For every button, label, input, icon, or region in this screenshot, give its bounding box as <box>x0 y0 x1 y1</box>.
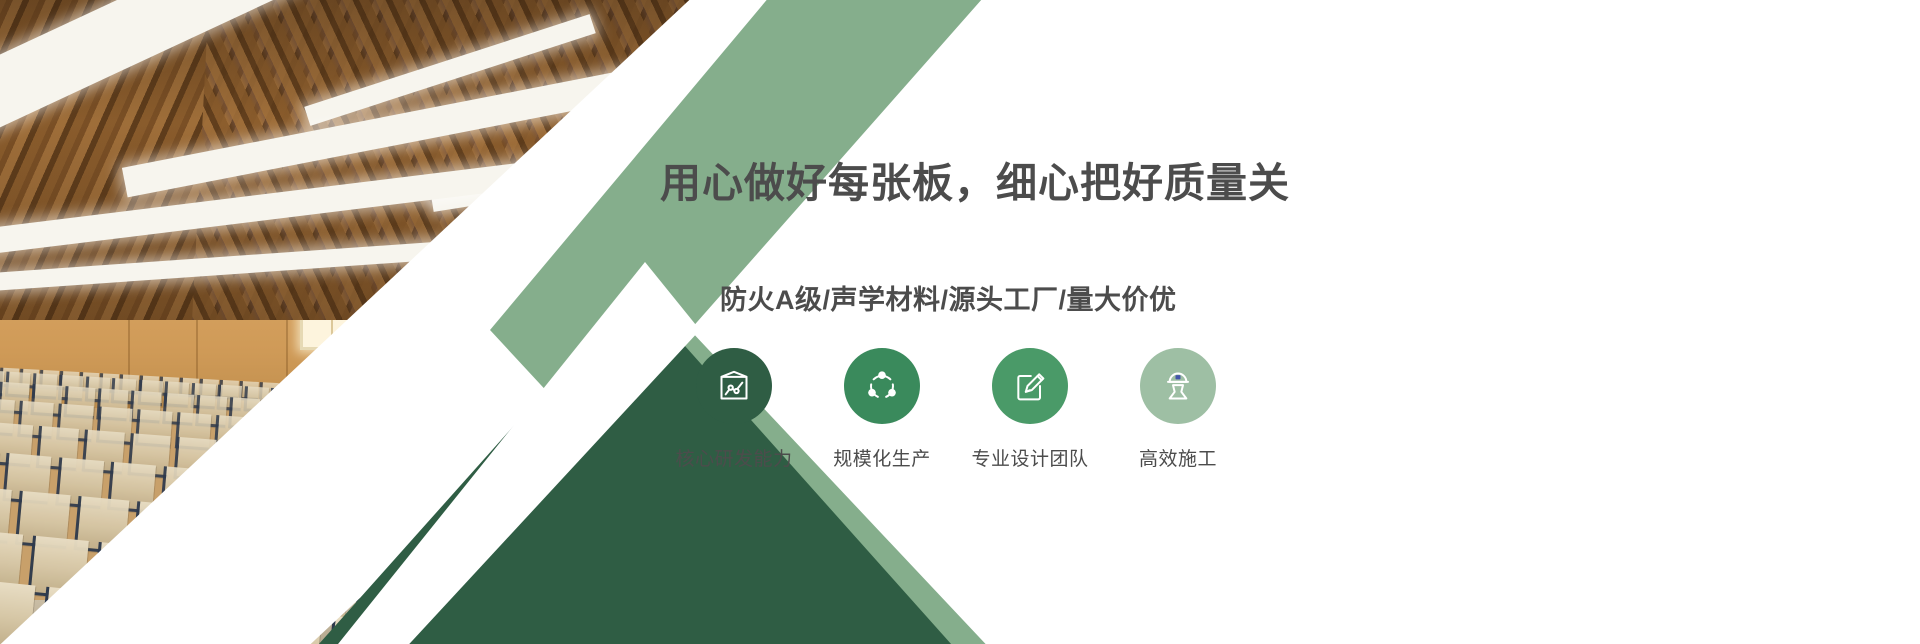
photo-seat <box>326 616 393 644</box>
banner-subtitle: 防火A级/声学材料/源头工厂/量大价优 <box>720 278 1520 317</box>
photo-seat <box>111 594 178 644</box>
feature-label: 核心研发能力 <box>675 444 792 471</box>
photo-seat <box>183 601 250 644</box>
photo-seat <box>40 587 107 644</box>
feature-icon-circle <box>696 348 772 424</box>
photo-front-chairs <box>390 338 480 348</box>
feature-item-research[interactable]: 核心研发能力 <box>660 348 808 471</box>
auditorium-photo <box>0 0 720 644</box>
hero-banner: 用心做好每张板，细心把好质量关 防火A级/声学材料/源头工厂/量大价优 <box>0 0 1920 644</box>
feature-icon-circle <box>844 348 920 424</box>
feature-label: 规模化生产 <box>833 444 931 471</box>
network-nodes-icon <box>862 366 902 406</box>
research-box-icon <box>714 366 754 406</box>
banner-content: 用心做好每张板，细心把好质量关 防火A级/声学材料/源头工厂/量大价优 <box>660 0 1920 644</box>
photo-seat <box>255 609 322 644</box>
feature-item-production[interactable]: 规模化生产 <box>808 348 956 471</box>
feature-icon-circle <box>1140 348 1216 424</box>
pencil-edit-icon <box>1010 366 1050 406</box>
feature-label: 高效施工 <box>1139 444 1217 471</box>
feature-item-design[interactable]: 专业设计团队 <box>956 348 1104 471</box>
feature-icon-circle <box>992 348 1068 424</box>
page-title: 用心做好每张板，细心把好质量关 <box>660 149 1560 209</box>
photo-seating-rows <box>0 356 720 644</box>
feature-list: 核心研发能力 规模化生产 <box>660 348 1252 471</box>
worker-helmet-icon <box>1158 366 1198 406</box>
feature-item-construction[interactable]: 高效施工 <box>1104 348 1252 471</box>
photo-seat <box>549 585 610 644</box>
feature-label: 专业设计团队 <box>971 444 1088 471</box>
photo-seat <box>0 579 35 644</box>
